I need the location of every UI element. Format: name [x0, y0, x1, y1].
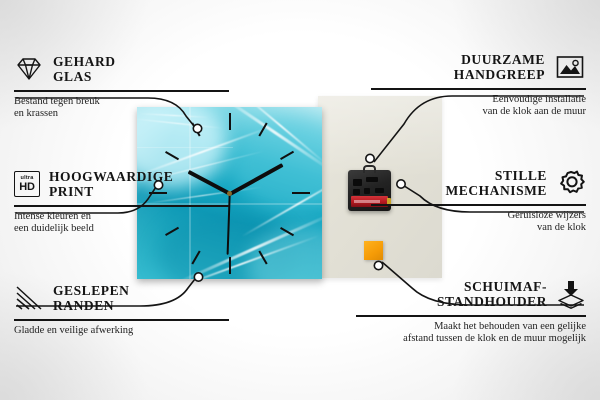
feature-description: Bestand tegen breuk en krassen: [14, 96, 229, 121]
feature-description: Maakt het behouden van een gelijke afsta…: [356, 321, 586, 346]
movement-slot: [364, 188, 370, 194]
feature-rule: [371, 88, 586, 90]
feature-schuimafstandhouder: SCHUIMAF- STANDHOUDER Maakt het behouden…: [356, 277, 586, 346]
feature-rule: [14, 319, 229, 321]
hour-tick-3: [292, 192, 310, 194]
feature-description: Intense kleuren en een duidelijk beeld: [14, 211, 229, 236]
foam-spacer: [364, 241, 383, 260]
feature-duurzame-handgreep: DUURZAME HANDGREEP Eenvoudige installati…: [371, 50, 586, 119]
feature-rule: [14, 205, 229, 207]
feature-description: Gladde en veilige afwerking: [14, 325, 229, 338]
feature-head: ultra HD HOOGWAARDIGE PRINT: [14, 167, 229, 201]
reflection-line: [137, 147, 233, 148]
feature-geslepen-randen: GESLEPEN RANDEN Gladde en veilige afwerk…: [14, 281, 229, 337]
feature-head: SCHUIMAF- STANDHOUDER: [356, 277, 586, 311]
feature-rule: [14, 90, 229, 92]
feature-title: HOOGWAARDIGE PRINT: [49, 169, 173, 200]
diamond-icon: [14, 55, 44, 83]
feature-head: DUURZAME HANDGREEP: [371, 50, 586, 84]
feature-title: GESLEPEN RANDEN: [53, 283, 129, 314]
press-down-icon: [556, 279, 586, 309]
ultra-hd-icon: ultra HD: [14, 171, 40, 197]
feature-head: GESLEPEN RANDEN: [14, 281, 229, 315]
feature-description: Geruisloze wijzers van de klok: [371, 210, 586, 235]
feature-description: Eenvoudige installatie van de klok aan d…: [371, 94, 586, 119]
picture-frame-icon: [554, 53, 586, 81]
gear-icon: [556, 169, 586, 197]
movement-slot: [353, 179, 362, 186]
beveled-edges-icon: [14, 284, 44, 312]
feature-rule: [371, 204, 586, 206]
feature-title: STILLE MECHANISME: [445, 168, 547, 199]
feature-head: STILLE MECHANISME: [371, 166, 586, 200]
feature-gehard-glas: GEHARD GLAS Bestand tegen breuk en krass…: [14, 52, 229, 121]
feature-head: GEHARD GLAS: [14, 52, 229, 86]
feature-hoogwaardige-print: ultra HD HOOGWAARDIGE PRINT Intense kleu…: [14, 167, 229, 236]
feature-title: GEHARD GLAS: [53, 54, 116, 85]
feature-stille-mechanisme: STILLE MECHANISME Geruisloze wijzers van…: [371, 166, 586, 235]
infographic-stage: GEHARD GLAS Bestand tegen breuk en krass…: [0, 0, 600, 400]
hour-tick-6: [229, 257, 231, 274]
feature-title: SCHUIMAF- STANDHOUDER: [437, 279, 547, 310]
feature-rule: [356, 315, 586, 317]
movement-slot: [353, 189, 360, 195]
feature-title: DUURZAME HANDGREEP: [454, 52, 545, 83]
